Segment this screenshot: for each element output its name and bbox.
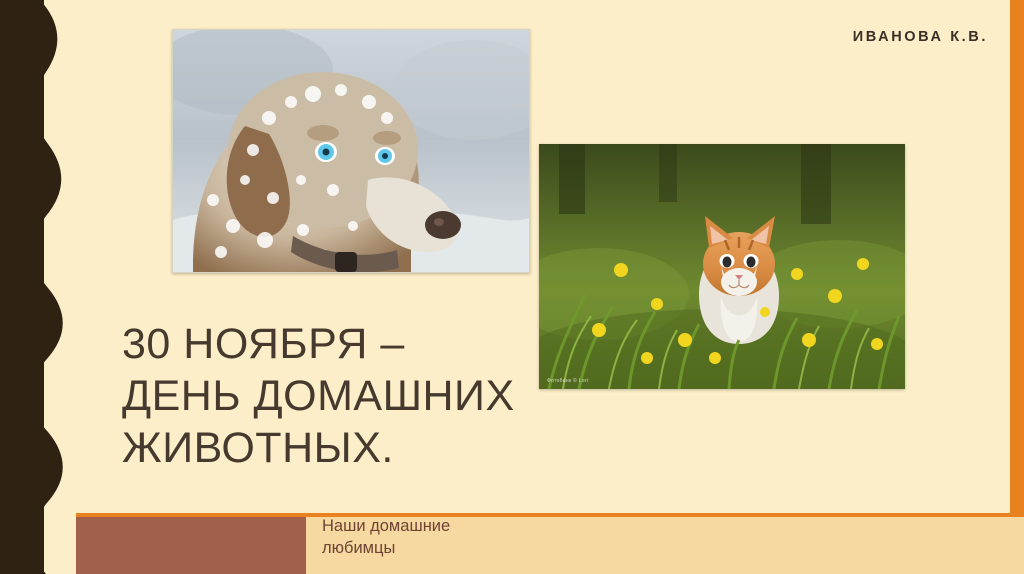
kitten-in-grass-illustration bbox=[539, 144, 905, 389]
page-title: 30 НОЯБРЯ – ДЕНЬ ДОМАШНИХ ЖИВОТНЫХ. bbox=[122, 318, 592, 474]
subtitle-line-1: Наши домашние bbox=[322, 516, 622, 538]
kitten-in-grass-photo: Фотобанк © Lori bbox=[539, 144, 905, 389]
presentation-slide: ИВАНОВА К.В. bbox=[0, 0, 1024, 574]
dog-in-snow-illustration bbox=[173, 30, 529, 272]
right-accent-bar bbox=[1010, 0, 1024, 574]
subtitle-line-2: любимцы bbox=[322, 538, 622, 560]
left-wave-decoration bbox=[40, 0, 84, 574]
title-line-3: ЖИВОТНЫХ. bbox=[122, 422, 592, 474]
slide-subtitle: Наши домашние любимцы bbox=[322, 516, 622, 560]
left-dark-band bbox=[0, 0, 44, 574]
title-line-2: ДЕНЬ ДОМАШНИХ bbox=[122, 370, 592, 422]
author-name: ИВАНОВА К.В. bbox=[853, 29, 988, 45]
bottom-brown-block bbox=[76, 517, 306, 574]
title-line-1: 30 НОЯБРЯ – bbox=[122, 318, 592, 370]
dog-in-snow-photo bbox=[172, 29, 530, 273]
